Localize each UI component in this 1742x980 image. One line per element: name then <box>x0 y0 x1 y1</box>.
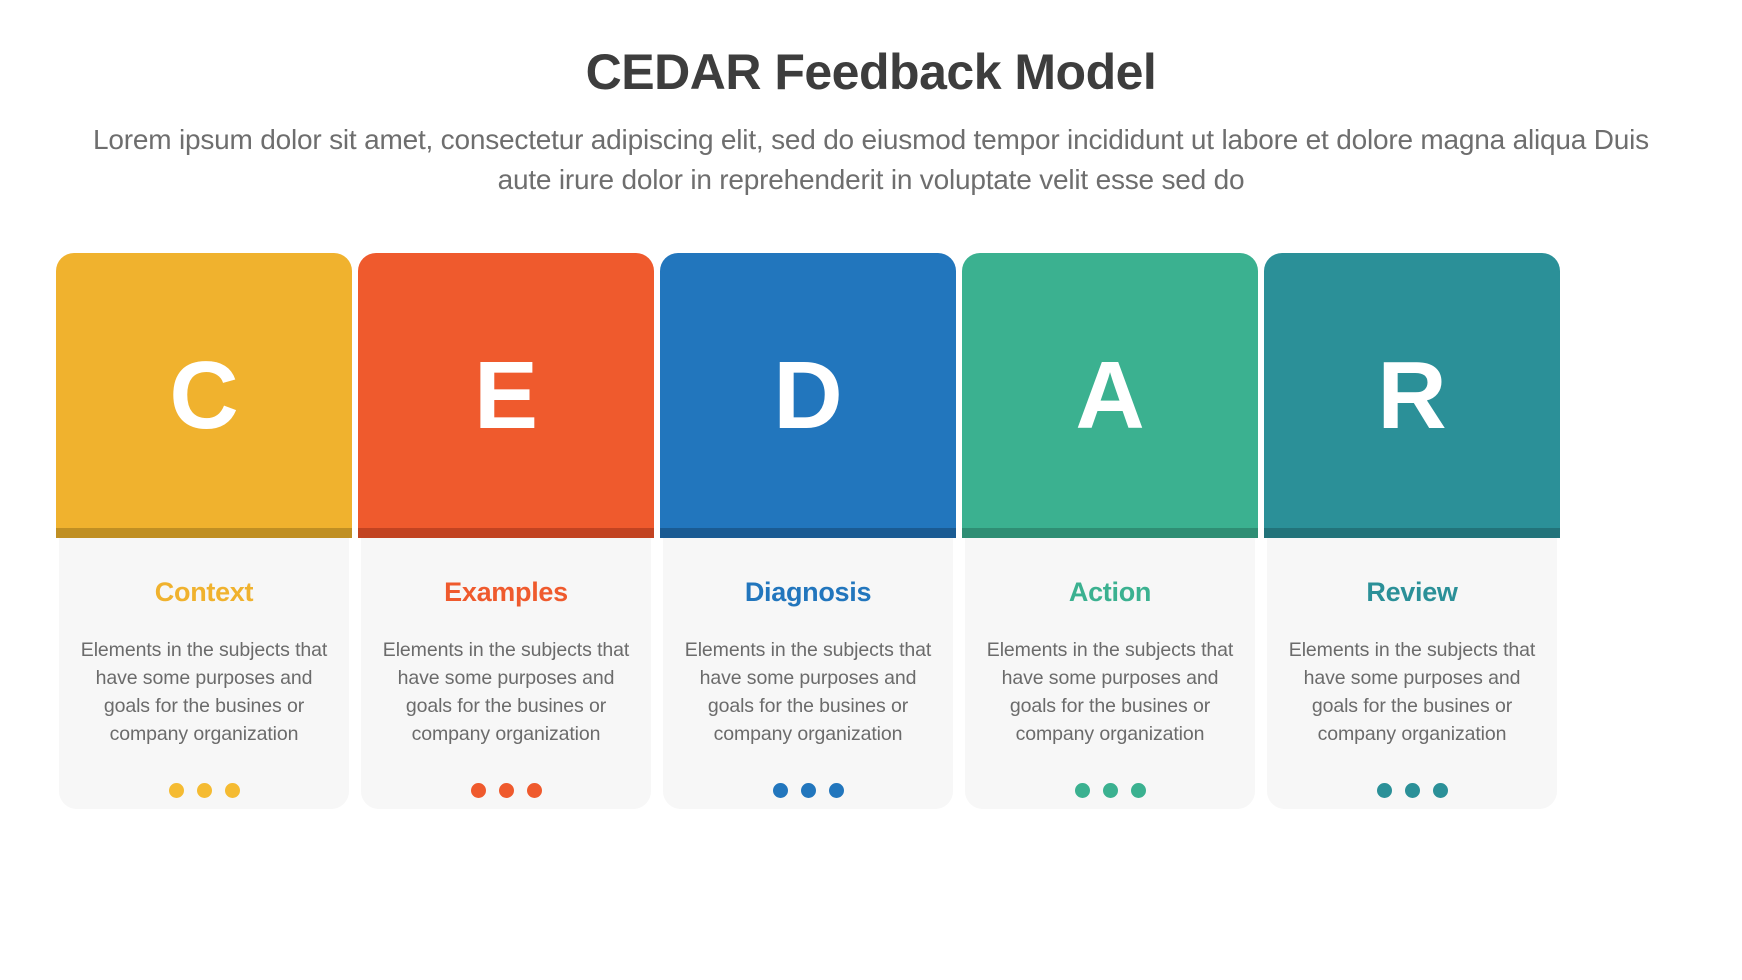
card-description: Elements in the subjects that have some … <box>679 636 937 749</box>
dot-icon <box>1405 783 1420 798</box>
card-title: Review <box>1366 578 1457 608</box>
dot-icon <box>801 783 816 798</box>
dot-icon <box>1377 783 1392 798</box>
card-header-context: C <box>56 253 352 538</box>
card-letter: E <box>474 348 538 444</box>
card-description: Elements in the subjects that have some … <box>1283 636 1541 749</box>
card-header-accent-strip <box>660 528 956 538</box>
cedar-card-review[interactable]: RReviewElements in the subjects that hav… <box>1267 253 1557 809</box>
card-title: Action <box>1069 578 1151 608</box>
card-dots-indicator <box>1075 783 1146 798</box>
card-body: ContextElements in the subjects that hav… <box>59 538 349 809</box>
cedar-card-action[interactable]: AActionElements in the subjects that hav… <box>965 253 1255 809</box>
dot-icon <box>1075 783 1090 798</box>
dot-icon <box>499 783 514 798</box>
card-header-diagnosis: D <box>660 253 956 538</box>
cedar-card-context[interactable]: CContextElements in the subjects that ha… <box>59 253 349 809</box>
dot-icon <box>829 783 844 798</box>
card-header-accent-strip <box>56 528 352 538</box>
card-header-accent-strip <box>962 528 1258 538</box>
dot-icon <box>169 783 184 798</box>
card-body: ExamplesElements in the subjects that ha… <box>361 538 651 809</box>
cedar-card-diagnosis[interactable]: DDiagnosisElements in the subjects that … <box>663 253 953 809</box>
dot-icon <box>1103 783 1118 798</box>
card-letter: R <box>1377 348 1446 444</box>
card-description: Elements in the subjects that have some … <box>377 636 635 749</box>
card-title: Diagnosis <box>745 578 871 608</box>
card-header-accent-strip <box>1264 528 1560 538</box>
card-dots-indicator <box>773 783 844 798</box>
dot-icon <box>471 783 486 798</box>
dot-icon <box>225 783 240 798</box>
dot-icon <box>1131 783 1146 798</box>
card-header-review: R <box>1264 253 1560 538</box>
page-title: CEDAR Feedback Model <box>0 44 1742 100</box>
card-title: Examples <box>444 578 568 608</box>
card-dots-indicator <box>169 783 240 798</box>
dot-icon <box>527 783 542 798</box>
card-header-accent-strip <box>358 528 654 538</box>
card-letter: A <box>1075 348 1144 444</box>
card-body: ActionElements in the subjects that have… <box>965 538 1255 809</box>
card-header-action: A <box>962 253 1258 538</box>
card-letter: D <box>773 348 842 444</box>
card-header-examples: E <box>358 253 654 538</box>
page-header: CEDAR Feedback Model Lorem ipsum dolor s… <box>0 0 1742 200</box>
card-dots-indicator <box>471 783 542 798</box>
card-title: Context <box>155 578 253 608</box>
card-description: Elements in the subjects that have some … <box>981 636 1239 749</box>
card-body: ReviewElements in the subjects that have… <box>1267 538 1557 809</box>
dot-icon <box>1433 783 1448 798</box>
cedar-cards-row: CContextElements in the subjects that ha… <box>59 253 1687 809</box>
card-body: DiagnosisElements in the subjects that h… <box>663 538 953 809</box>
infographic-page: CEDAR Feedback Model Lorem ipsum dolor s… <box>0 0 1742 980</box>
dot-icon <box>197 783 212 798</box>
card-description: Elements in the subjects that have some … <box>75 636 333 749</box>
dot-icon <box>773 783 788 798</box>
card-letter: C <box>169 348 238 444</box>
card-dots-indicator <box>1377 783 1448 798</box>
cedar-card-examples[interactable]: EExamplesElements in the subjects that h… <box>361 253 651 809</box>
page-subtitle: Lorem ipsum dolor sit amet, consectetur … <box>71 120 1671 200</box>
